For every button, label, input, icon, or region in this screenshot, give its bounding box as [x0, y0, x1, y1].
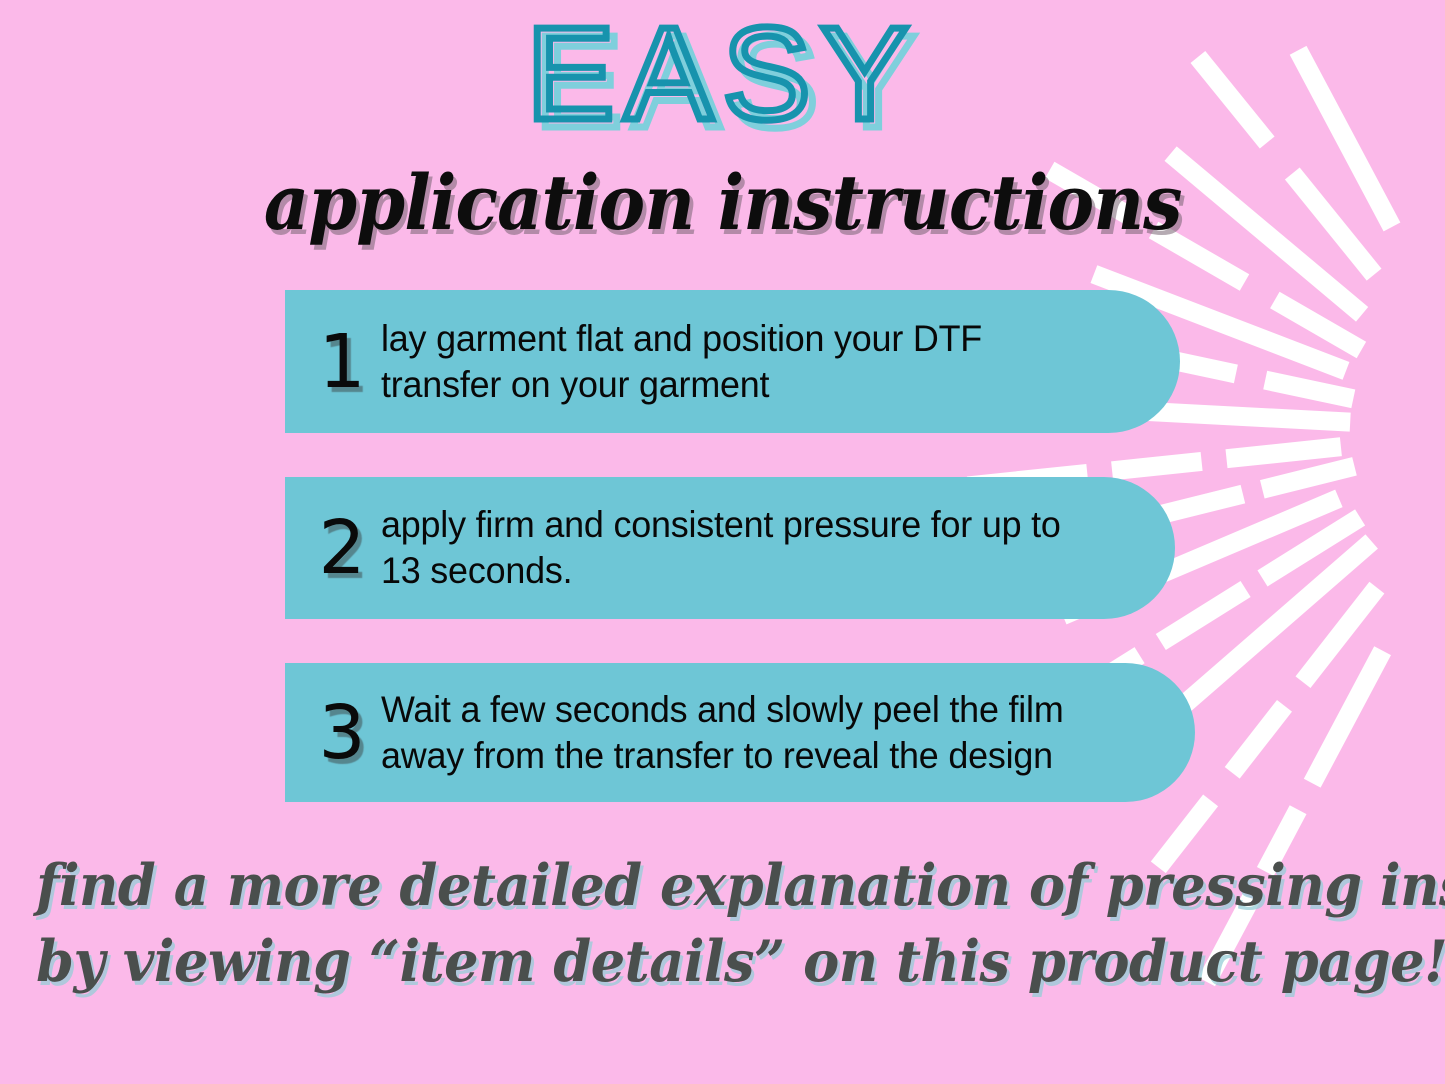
footer-line-2: by viewing “item details” on this produc…: [36, 924, 1409, 1000]
step-number-3: 3: [309, 696, 375, 770]
steps-list: 1 lay garment flat and position your DTF…: [0, 290, 1445, 802]
step-text-2: apply firm and consistent pressure for u…: [381, 502, 1099, 594]
footer-line-1: find a more detailed explanation of pres…: [36, 848, 1409, 924]
step-text-1: lay garment flat and position your DTF t…: [381, 316, 1104, 408]
subtitle-text: application instructions: [264, 160, 1182, 245]
step-text-3: Wait a few seconds and slowly peel the f…: [381, 687, 1118, 779]
step-pill-2: 2 apply firm and consistent pressure for…: [285, 477, 1175, 619]
footer-block: find a more detailed explanation of pres…: [0, 848, 1445, 1000]
step-pill-1: 1 lay garment flat and position your DTF…: [285, 290, 1180, 433]
step-number-2: 2: [309, 511, 375, 585]
subtitle-block: application instructions: [0, 160, 1445, 245]
poster-canvas: EASY EASY application instructions 1 lay…: [0, 0, 1445, 1084]
title-block: EASY EASY: [0, 8, 1445, 168]
step-number-1: 1: [309, 325, 375, 399]
step-pill-3: 3 Wait a few seconds and slowly peel the…: [285, 663, 1195, 802]
easy-title-front: EASY: [526, 8, 918, 140]
easy-title: EASY EASY: [526, 8, 918, 140]
